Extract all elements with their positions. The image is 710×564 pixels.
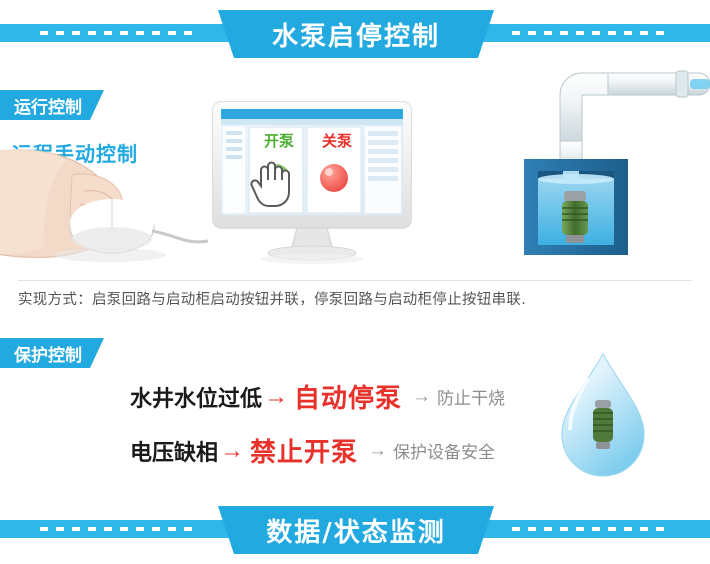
section-tag-run-control-label: 运行控制 bbox=[14, 93, 82, 118]
hand-on-mouse-illustration bbox=[0, 135, 215, 265]
top-banner-dash-right bbox=[512, 31, 672, 35]
section-tag-run-control: 运行控制 bbox=[0, 90, 104, 120]
monitor-start-pump-button[interactable]: 开泵 bbox=[252, 130, 306, 151]
section-tag-protection-control: 保护控制 bbox=[0, 338, 104, 368]
rule-2-effect: 保护设备安全 bbox=[393, 438, 495, 463]
hand-mouse-icon bbox=[0, 135, 215, 265]
section-tag-protection-control-label: 保护控制 bbox=[14, 341, 82, 366]
top-banner-title: 水泵启停控制 bbox=[272, 16, 440, 53]
water-well-illustration bbox=[500, 55, 710, 270]
rule-2-action: 禁止开泵 bbox=[250, 432, 358, 469]
water-droplet-illustration bbox=[548, 348, 658, 483]
bottom-banner-dash-right bbox=[512, 527, 672, 531]
rule-2-arrow2-icon: → bbox=[368, 440, 387, 462]
note-separator bbox=[18, 280, 692, 281]
monitor-stop-pump-button[interactable]: 关泵 bbox=[310, 130, 364, 151]
bottom-banner-dash-left bbox=[40, 527, 200, 531]
rule-1-arrow-icon: → bbox=[264, 383, 288, 411]
water-well-pump-icon bbox=[500, 55, 710, 270]
rule-2-arrow-icon: → bbox=[220, 437, 244, 465]
protection-rule-row-1: 水井水位过低 → 自动停泵 → 防止干烧 bbox=[130, 378, 505, 415]
top-banner-ribbon: 水泵启停控制 bbox=[218, 10, 494, 58]
rule-1-condition: 水井水位过低 bbox=[130, 381, 262, 413]
implementation-note: 实现方式：启泵回路与启动柜启动按钮并联，停泵回路与启动柜停止按钮串联. bbox=[18, 288, 692, 309]
rule-1-arrow2-icon: → bbox=[412, 386, 431, 408]
top-banner-dash-left bbox=[40, 31, 200, 35]
protection-rule-row-2: 电压缺相 → 禁止开泵 → 保护设备安全 bbox=[130, 432, 495, 469]
rule-1-action: 自动停泵 bbox=[294, 378, 402, 415]
water-droplet-icon bbox=[548, 348, 658, 483]
bottom-banner-ribbon: 数据/状态监测 bbox=[218, 506, 494, 554]
bottom-banner: 数据/状态监测 bbox=[0, 500, 710, 560]
rule-1-effect: 防止干烧 bbox=[437, 384, 505, 409]
bottom-banner-title: 数据/状态监测 bbox=[266, 512, 446, 549]
rule-2-condition: 电压缺相 bbox=[130, 435, 218, 467]
desktop-monitor-icon bbox=[205, 100, 420, 265]
desktop-monitor-illustration: 开泵 关泵 bbox=[205, 100, 420, 265]
computer-mouse-icon bbox=[70, 199, 208, 253]
infographic-root: 水泵启停控制 运行控制 远程手动控制 bbox=[0, 0, 710, 564]
